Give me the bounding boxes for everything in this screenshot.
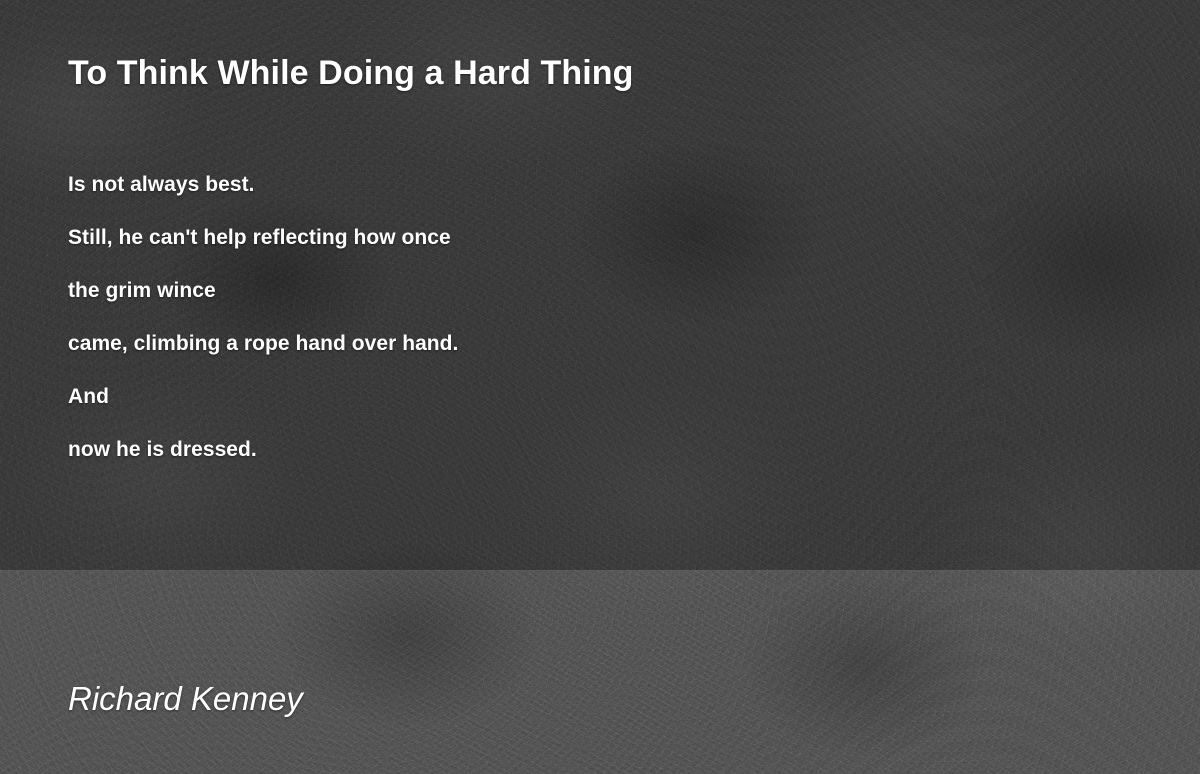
poem-line: Still, he can't help reflecting how once <box>68 211 968 264</box>
poet-name: Richard Kenney <box>68 679 303 719</box>
poem-line: now he is dressed. <box>68 423 968 476</box>
poem-line: came, climbing a rope hand over hand. <box>68 317 968 370</box>
poem-line: the grim wince <box>68 264 968 317</box>
page-title: To Think While Doing a Hard Thing <box>68 53 634 93</box>
poem-line: Is not always best. <box>68 158 968 211</box>
poem-line: And <box>68 370 968 423</box>
poem-body: Is not always best. Still, he can't help… <box>68 158 968 476</box>
poem-card: To Think While Doing a Hard Thing Is not… <box>0 0 1200 774</box>
poem-content: To Think While Doing a Hard Thing Is not… <box>0 0 1200 774</box>
